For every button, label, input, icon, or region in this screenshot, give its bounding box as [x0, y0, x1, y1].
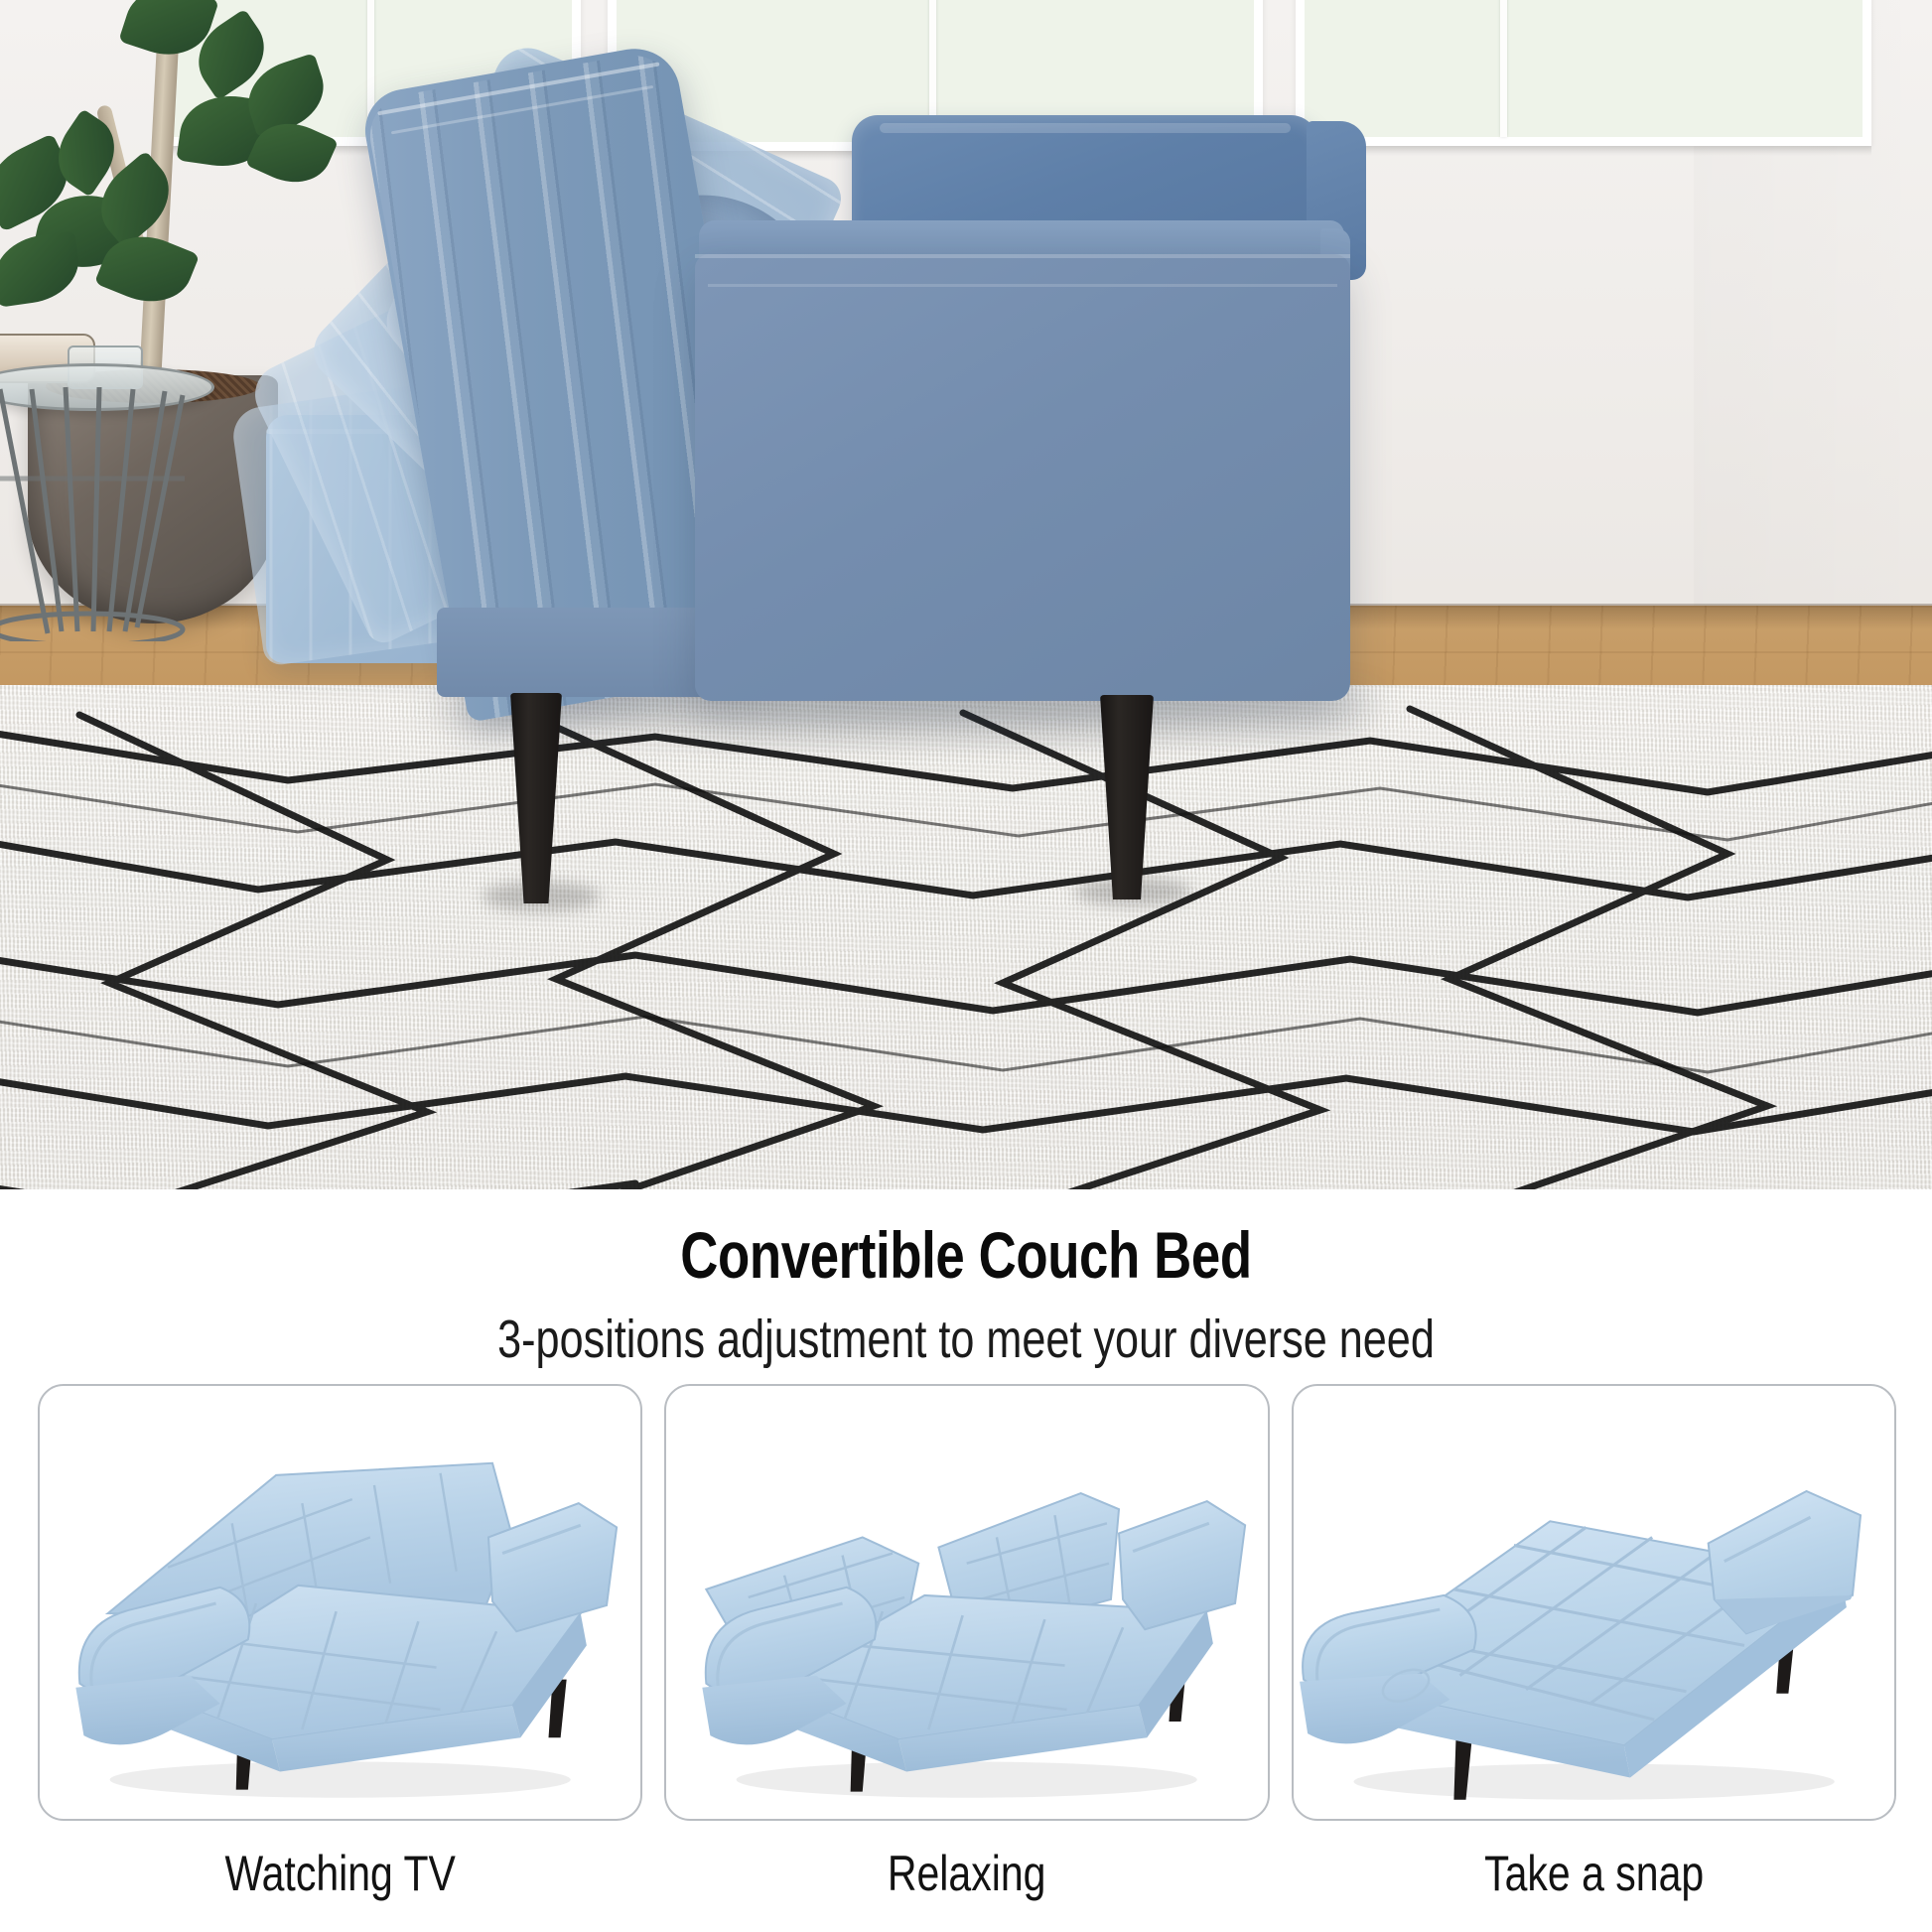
sofa-illustration-flat-bed	[1294, 1386, 1894, 1819]
caption-watching-tv: Watching TV	[92, 1835, 589, 1912]
caption-relaxing: Relaxing	[719, 1835, 1215, 1912]
caption-take-a-snap: Take a snap	[1345, 1835, 1842, 1912]
panel-watching-tv[interactable]	[38, 1384, 642, 1821]
product-marketing-image: Convertible Couch Bed 3-positions adjust…	[0, 0, 1932, 1932]
page-title: Convertible Couch Bed	[194, 1217, 1739, 1293]
panel-take-a-snap[interactable]	[1292, 1384, 1896, 1821]
berber-diamond-shag-rug	[0, 685, 1932, 1189]
sofa-illustration-reclined	[666, 1386, 1267, 1819]
panel-relaxing[interactable]	[664, 1384, 1269, 1821]
page-subtitle: 3-positions adjustment to meet your dive…	[194, 1309, 1739, 1370]
window-sill-shadow	[1296, 146, 1871, 156]
window-pane-right	[1296, 0, 1871, 146]
sofa-reclined-svg	[666, 1386, 1267, 1819]
wire-frame	[0, 383, 208, 641]
position-panels	[38, 1384, 1896, 1821]
sofa-upright-svg	[40, 1386, 640, 1819]
sofa-flat-svg	[1294, 1386, 1894, 1819]
table-wire-base	[0, 383, 208, 641]
hero-room-scene	[0, 0, 1932, 1189]
window-mullion	[1500, 0, 1507, 137]
sofa-body-side-panel	[695, 254, 1350, 701]
rug-pattern	[0, 685, 1932, 1189]
round-wire-side-table	[0, 0, 238, 675]
window-glass	[1305, 0, 1863, 137]
sofa-illustration-upright	[40, 1386, 640, 1819]
panel-captions: Watching TV Relaxing Take a snap	[38, 1835, 1896, 1912]
sofa-body-seam	[708, 284, 1337, 287]
sofa-body-top-edge	[695, 254, 1350, 258]
